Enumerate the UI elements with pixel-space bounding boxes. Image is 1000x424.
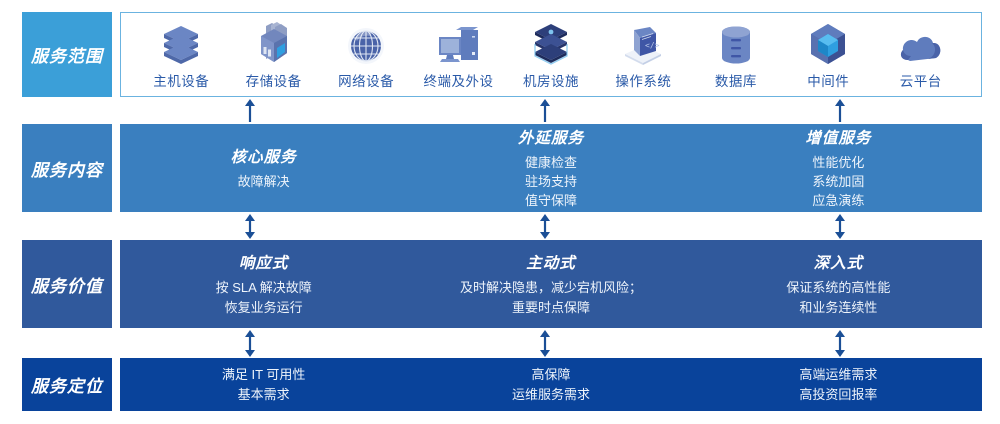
- column-line: 及时解决隐患，减少宕机风险；: [460, 278, 642, 297]
- positioning-column-highend[interactable]: 高端运维需求 高投资回报率: [695, 358, 982, 411]
- column-line: 满足 IT 可用性: [222, 365, 306, 385]
- column-lines: 及时解决隐患，减少宕机风险； 重要时点保障: [460, 278, 642, 316]
- column-line: 值守保障: [525, 191, 577, 210]
- column-line: 高保障: [512, 365, 590, 385]
- value-column-proactive[interactable]: 主动式 及时解决隐患，减少宕机风险； 重要时点保障: [407, 240, 694, 328]
- column-lines: 性能优化 系统加固 应急演练: [812, 153, 864, 211]
- column-line: 运维服务需求: [512, 385, 590, 405]
- scope-item-label: 主机设备: [153, 70, 209, 90]
- positioning-column-assurance[interactable]: 高保障 运维服务需求: [407, 358, 694, 411]
- column-line: 驻场支持: [525, 172, 577, 191]
- scope-item-operating-system[interactable]: </> 操作系统: [597, 22, 689, 90]
- connector-content-to-value-right: [833, 214, 847, 239]
- scope-item-database[interactable]: 数据库: [690, 22, 782, 90]
- scope-item-label: 中间件: [807, 70, 849, 90]
- scope-item-datacenter-facility[interactable]: 机房设施: [505, 22, 597, 90]
- value-column-indepth[interactable]: 深入式 保证系统的高性能 和业务连续性: [695, 240, 982, 328]
- row-label-service-scope: 服务范围: [22, 12, 112, 97]
- column-line: 健康检查: [525, 153, 577, 172]
- column-title: 外延服务: [518, 126, 584, 148]
- connector-content-to-value-mid: [538, 214, 552, 239]
- column-title: 核心服务: [231, 145, 297, 167]
- content-column-extended[interactable]: 外延服务 健康检查 驻场支持 值守保障: [407, 124, 694, 212]
- datacenter-facility-icon: [527, 22, 575, 66]
- scope-item-label: 操作系统: [615, 70, 671, 90]
- service-scope-panel: 主机设备: [120, 12, 982, 97]
- storage-array-icon: [250, 22, 298, 66]
- column-line: 重要时点保障: [460, 298, 642, 317]
- row-service-content: 服务内容 核心服务 故障解决 外延服务 健康检查 驻场支持 值守保障: [0, 124, 1000, 212]
- value-column-responsive[interactable]: 响应式 按 SLA 解决故障 恢复业务运行: [120, 240, 407, 328]
- os-book-icon: </>: [619, 22, 667, 66]
- row-label-service-content: 服务内容: [22, 124, 112, 212]
- scope-item-cloud-platform[interactable]: 云平台: [875, 22, 967, 90]
- column-lines: 健康检查 驻场支持 值守保障: [525, 153, 577, 211]
- row-service-value: 服务价值 响应式 按 SLA 解决故障 恢复业务运行 主动式 及时解决隐患，减少…: [0, 240, 1000, 328]
- scope-item-label: 数据库: [715, 70, 757, 90]
- column-line: 应急演练: [812, 191, 864, 210]
- column-line: 系统加固: [812, 172, 864, 191]
- database-cylinder-icon: [712, 22, 760, 66]
- column-line: 和业务连续性: [786, 298, 890, 317]
- scope-item-middleware[interactable]: 中间件: [782, 22, 874, 90]
- service-content-panel: 核心服务 故障解决 外延服务 健康检查 驻场支持 值守保障 增值服务: [120, 124, 982, 212]
- column-title: 深入式: [814, 251, 864, 273]
- connector-scope-to-content-left: [243, 99, 257, 122]
- scope-item-label: 存储设备: [246, 70, 302, 90]
- connector-scope-to-content-right: [833, 99, 847, 122]
- content-column-valueadd[interactable]: 增值服务 性能优化 系统加固 应急演练: [695, 124, 982, 212]
- service-framework-diagram: 服务范围 主机设备: [0, 0, 1000, 424]
- column-line: 高端运维需求: [799, 365, 877, 385]
- column-line: 恢复业务运行: [216, 298, 312, 317]
- scope-item-label: 机房设施: [523, 70, 579, 90]
- globe-network-icon: [342, 22, 390, 66]
- column-lines: 保证系统的高性能 和业务连续性: [786, 278, 890, 316]
- scope-item-label: 云平台: [900, 70, 942, 90]
- cloud-icon: [897, 22, 945, 66]
- column-lines: 满足 IT 可用性 基本需求: [222, 365, 306, 404]
- svg-text:</>: </>: [645, 41, 660, 50]
- scope-item-label: 终端及外设: [424, 70, 494, 90]
- connector-value-to-position-right: [833, 330, 847, 357]
- row-service-scope: 服务范围 主机设备: [0, 12, 1000, 97]
- column-title: 响应式: [239, 251, 289, 273]
- column-lines: 高保障 运维服务需求: [512, 365, 590, 404]
- server-stack-icon: [157, 22, 205, 66]
- scope-item-storage-devices[interactable]: 存储设备: [227, 22, 319, 90]
- column-line: 按 SLA 解决故障: [216, 278, 312, 297]
- service-positioning-panel: 满足 IT 可用性 基本需求 高保障 运维服务需求 高端运维需求 高投资回报率: [120, 358, 982, 411]
- column-lines: 高端运维需求 高投资回报率: [799, 365, 877, 404]
- scope-item-label: 网络设备: [338, 70, 394, 90]
- connector-content-to-value-left: [243, 214, 257, 239]
- connector-scope-to-content-mid: [538, 99, 552, 122]
- scope-item-network-devices[interactable]: 网络设备: [320, 22, 412, 90]
- row-label-service-positioning: 服务定位: [22, 358, 112, 411]
- column-line: 性能优化: [812, 153, 864, 172]
- scope-item-endpoints-peripherals[interactable]: 终端及外设: [412, 22, 504, 90]
- connector-value-to-position-left: [243, 330, 257, 357]
- positioning-column-basic[interactable]: 满足 IT 可用性 基本需求: [120, 358, 407, 411]
- column-line: 基本需求: [222, 385, 306, 405]
- column-lines: 故障解决: [238, 172, 290, 191]
- column-title: 主动式: [526, 251, 576, 273]
- row-label-service-value: 服务价值: [22, 240, 112, 328]
- middleware-cube-icon: [804, 22, 852, 66]
- column-line: 保证系统的高性能: [786, 278, 890, 297]
- desktop-pc-icon: [435, 22, 483, 66]
- column-line: 故障解决: [238, 172, 290, 191]
- row-service-positioning: 服务定位 满足 IT 可用性 基本需求 高保障 运维服务需求: [0, 358, 1000, 411]
- service-value-panel: 响应式 按 SLA 解决故障 恢复业务运行 主动式 及时解决隐患，减少宕机风险；…: [120, 240, 982, 328]
- connector-value-to-position-mid: [538, 330, 552, 357]
- column-title: 增值服务: [805, 126, 871, 148]
- column-line: 高投资回报率: [799, 385, 877, 405]
- content-column-core[interactable]: 核心服务 故障解决: [120, 124, 407, 212]
- column-lines: 按 SLA 解决故障 恢复业务运行: [216, 278, 312, 316]
- scope-item-host-devices[interactable]: 主机设备: [135, 22, 227, 90]
